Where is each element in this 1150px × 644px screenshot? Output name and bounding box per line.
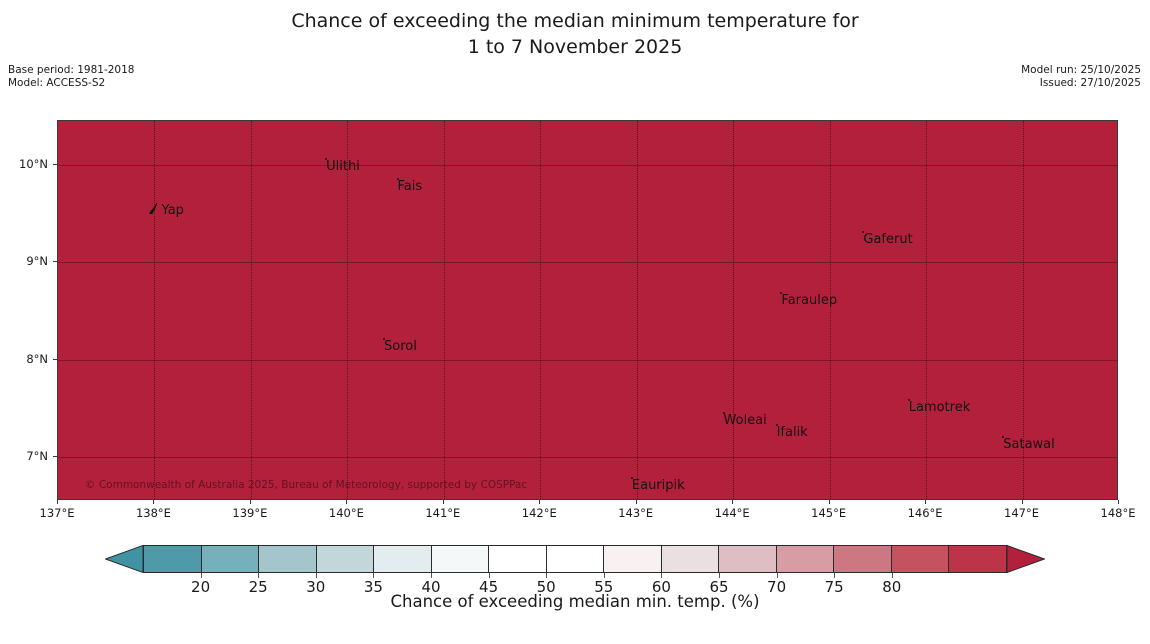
colorbar-cell <box>662 546 720 572</box>
colorbar-tick-mark <box>546 573 547 578</box>
x-axis-tick-mark <box>153 500 154 504</box>
colorbar-cap-right <box>1007 545 1045 573</box>
gridline-lon <box>733 121 735 499</box>
colorbar-tick-mark <box>834 573 835 578</box>
y-axis-tick-mark <box>53 359 57 360</box>
colorbar-cell <box>489 546 547 572</box>
colorbar-tick-mark <box>201 573 202 578</box>
gridline-lat <box>58 360 1117 361</box>
gridline-lon <box>154 121 156 499</box>
base-period-text: Base period: 1981-2018 <box>8 64 134 77</box>
model-text: Model: ACCESS-S2 <box>8 77 134 90</box>
x-axis-tick-mark <box>636 500 637 504</box>
colorbar-cells <box>143 545 1007 573</box>
island-label: Fais <box>398 179 423 194</box>
y-axis-tick-label: 8°N <box>26 352 48 366</box>
colorbar-cell <box>259 546 317 572</box>
colorbar-cell <box>777 546 835 572</box>
x-axis-tick-label: 148°E <box>1101 506 1136 520</box>
gridline-lon <box>251 121 253 499</box>
model-run-text: Model run: 25/10/2025 <box>1021 64 1141 77</box>
x-axis-tick-label: 144°E <box>715 506 750 520</box>
x-axis-tick-mark <box>250 500 251 504</box>
colorbar-cell <box>202 546 260 572</box>
gridline-lat <box>58 457 1117 458</box>
island-label: Ulithi <box>326 159 360 174</box>
gridline-lon <box>926 121 928 499</box>
metadata-right: Model run: 25/10/2025 Issued: 27/10/2025 <box>1021 64 1141 90</box>
island-label: Woleai <box>724 413 767 428</box>
x-axis-tick-label: 138°E <box>136 506 171 520</box>
colorbar-cell <box>834 546 892 572</box>
y-axis-tick-mark <box>53 456 57 457</box>
colorbar-cell <box>432 546 490 572</box>
x-axis-tick-mark <box>346 500 347 504</box>
colorbar-tick-mark <box>892 573 893 578</box>
colorbar-cell <box>317 546 375 572</box>
island-shape-yap <box>147 201 163 221</box>
colorbar-tick-mark <box>258 573 259 578</box>
colorbar-cell <box>547 546 605 572</box>
colorbar-tick-mark <box>777 573 778 578</box>
colorbar-cell <box>144 546 202 572</box>
colorbar-tick-mark <box>316 573 317 578</box>
colorbar-axis-label: Chance of exceeding median min. temp. (%… <box>0 592 1150 611</box>
x-axis-tick-label: 141°E <box>425 506 460 520</box>
colorbar-tick-mark <box>373 573 374 578</box>
colorbar-cell <box>949 546 1006 572</box>
x-axis-tick-mark <box>539 500 540 504</box>
island-label: Lamotrek <box>909 400 971 415</box>
y-axis-tick-label: 9°N <box>26 254 48 268</box>
colorbar-tick-mark <box>604 573 605 578</box>
island-label: Ifalik <box>777 425 808 440</box>
title-line-1: Chance of exceeding the median minimum t… <box>291 10 858 32</box>
x-axis-tick-mark <box>829 500 830 504</box>
colorbar-tick-mark <box>489 573 490 578</box>
gridline-lat <box>58 262 1117 263</box>
gridline-lon <box>347 121 349 499</box>
colorbar-cell <box>374 546 432 572</box>
y-axis-tick-mark <box>53 261 57 262</box>
map-plot-area: YapUlithiFaisSorolGaferutFaraulepWoleaiI… <box>57 120 1118 500</box>
x-axis-tick-label: 147°E <box>1004 506 1039 520</box>
x-axis-tick-label: 145°E <box>811 506 846 520</box>
colorbar-tick-mark <box>431 573 432 578</box>
island-label: Gaferut <box>863 232 912 247</box>
colorbar-cell <box>892 546 950 572</box>
gridline-lon <box>830 121 832 499</box>
x-axis-tick-mark <box>1022 500 1023 504</box>
page-title: Chance of exceeding the median minimum t… <box>0 8 1150 60</box>
issued-text: Issued: 27/10/2025 <box>1021 77 1141 90</box>
colorbar-cell <box>604 546 662 572</box>
x-axis-tick-mark <box>443 500 444 504</box>
y-axis-tick-label: 7°N <box>26 449 48 463</box>
x-axis-tick-label: 140°E <box>329 506 364 520</box>
colorbar-cap-left <box>105 545 143 573</box>
x-axis-tick-mark <box>57 500 58 504</box>
x-axis-tick-label: 143°E <box>618 506 653 520</box>
y-axis-tick-label: 10°N <box>19 157 48 171</box>
metadata-left: Base period: 1981-2018 Model: ACCESS-S2 <box>8 64 134 90</box>
y-axis-tick-mark <box>53 164 57 165</box>
x-axis-tick-label: 139°E <box>232 506 267 520</box>
gridline-lon <box>637 121 639 499</box>
colorbar-cell <box>719 546 777 572</box>
island-label: Eauripik <box>632 478 685 493</box>
gridline-lon <box>540 121 542 499</box>
x-axis-tick-mark <box>1118 500 1119 504</box>
island-label: Faraulep <box>781 293 837 308</box>
island-label: Yap <box>162 203 184 218</box>
colorbar-tick-mark <box>661 573 662 578</box>
x-axis-tick-label: 142°E <box>522 506 557 520</box>
forecast-map-page: Chance of exceeding the median minimum t… <box>0 0 1150 644</box>
x-axis-tick-label: 146°E <box>908 506 943 520</box>
island-label: Satawal <box>1003 437 1055 452</box>
x-axis-tick-mark <box>732 500 733 504</box>
island-label: Sorol <box>384 339 417 354</box>
gridline-lon <box>444 121 446 499</box>
copyright-text: © Commonwealth of Australia 2025, Bureau… <box>85 479 527 491</box>
x-axis-tick-mark <box>925 500 926 504</box>
x-axis-tick-label: 137°E <box>40 506 75 520</box>
title-line-2: 1 to 7 November 2025 <box>0 34 1150 60</box>
colorbar-tick-mark <box>719 573 720 578</box>
gridline-lat <box>58 165 1117 166</box>
